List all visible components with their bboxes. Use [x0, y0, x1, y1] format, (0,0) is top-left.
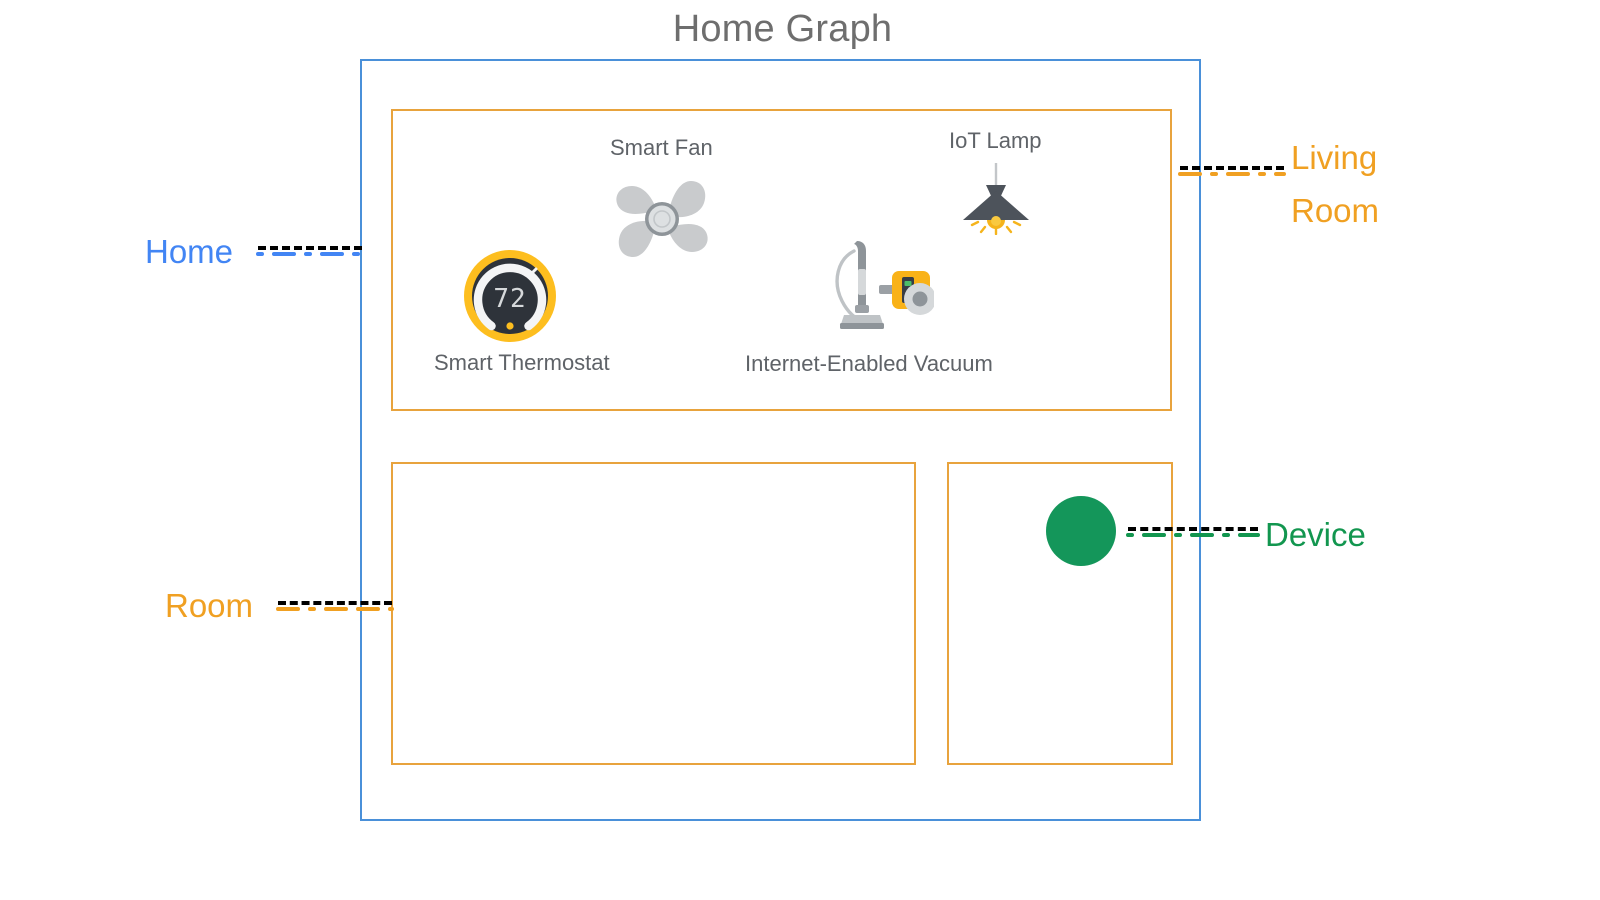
- device-label-smart-fan: Smart Fan: [610, 135, 713, 161]
- leader-line-device: [1128, 527, 1258, 531]
- callout-label-home: Home: [145, 225, 233, 278]
- callout-label-living-room: Living Room: [1291, 131, 1491, 238]
- device-node-circle: [1046, 496, 1116, 566]
- callout-label-room: Room: [165, 579, 253, 632]
- thermostat-value: 72: [493, 284, 526, 314]
- thermostat-icon: 72: [463, 249, 557, 343]
- vacuum-icon: [822, 233, 934, 333]
- room-box-empty: [391, 462, 916, 765]
- fan-icon: [607, 165, 717, 273]
- lamp-icon: [959, 163, 1033, 235]
- device-label-iot-lamp: IoT Lamp: [949, 128, 1042, 154]
- leader-line-room: [278, 601, 392, 605]
- callout-label-device: Device: [1265, 508, 1366, 561]
- leader-line-home: [258, 246, 362, 250]
- page-title: Home Graph: [0, 8, 1565, 51]
- home-graph-diagram: Home Graph Home Room Living Room Device …: [0, 0, 1600, 900]
- device-label-iot-vacuum: Internet-Enabled Vacuum: [745, 351, 993, 377]
- device-label-smart-thermostat: Smart Thermostat: [434, 350, 610, 376]
- leader-line-living-room: [1180, 166, 1284, 170]
